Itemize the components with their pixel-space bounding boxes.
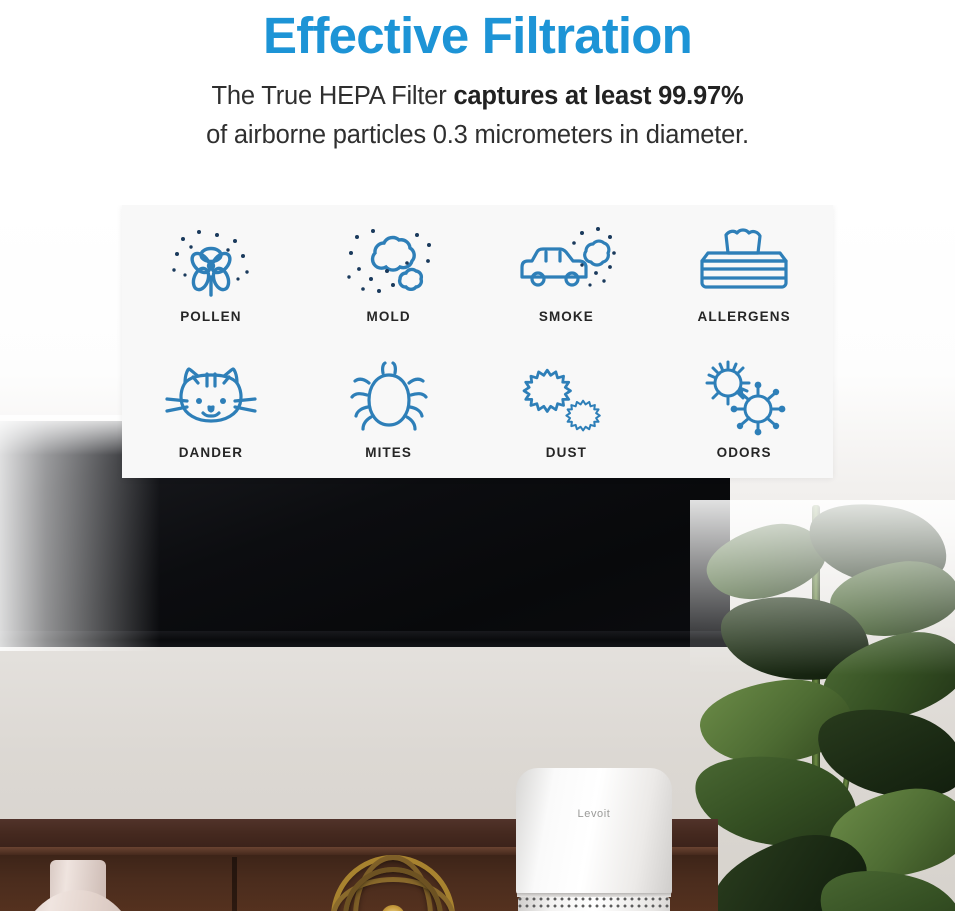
filtration-item-mold: MOLD — [300, 205, 478, 342]
levoit-air-purifier: Levoit — [516, 768, 672, 911]
filtration-item-allergens: ALLERGENS — [655, 205, 833, 342]
dust-mite-bug-icon — [333, 359, 445, 437]
mold-spore-cloud-icon — [333, 223, 445, 301]
filtration-item-pollen: POLLEN — [122, 205, 300, 342]
purifier-intake-mesh — [518, 897, 670, 911]
filtration-icon-grid: POLLEN MOLD — [122, 205, 833, 478]
header-section: Effective Filtration The True HEPA Filte… — [0, 0, 955, 205]
filtration-label: POLLEN — [180, 309, 241, 324]
ceramic-vase — [14, 860, 142, 911]
purifier-brand-label: Levoit — [516, 808, 672, 820]
subtitle-line1-bold: captures at least 99.97% — [453, 82, 743, 110]
filtration-label: ALLERGENS — [698, 309, 791, 324]
filtration-label: MOLD — [367, 309, 411, 324]
filtration-label: MITES — [365, 445, 412, 460]
purifier-upper-housing — [516, 768, 672, 895]
odor-germ-icon — [688, 359, 800, 437]
filtration-item-smoke: SMOKE — [478, 205, 656, 342]
filtration-label: SMOKE — [539, 309, 594, 324]
filtration-label: DANDER — [179, 445, 243, 460]
gold-armillary-sphere — [331, 855, 455, 911]
subtitle-line1-regular: The True HEPA Filter — [212, 82, 454, 110]
page-title: Effective Filtration — [0, 0, 955, 61]
filtration-item-dander: DANDER — [122, 342, 300, 479]
filtration-icon-panel: POLLEN MOLD — [122, 205, 833, 478]
tissue-box-icon — [688, 223, 800, 301]
filtration-label: ODORS — [717, 445, 772, 460]
filtration-label: DUST — [546, 445, 587, 460]
pollen-flower-icon — [155, 223, 267, 301]
subtitle-line2: of airborne particles 0.3 micrometers in… — [206, 121, 749, 149]
car-exhaust-smoke-icon — [510, 223, 622, 301]
dust-particle-icon — [510, 359, 622, 437]
filtration-item-odors: ODORS — [655, 342, 833, 479]
filtration-item-mites: MITES — [300, 342, 478, 479]
subtitle-text: The True HEPA Filter captures at least 9… — [0, 77, 955, 155]
plant-light-haze — [690, 500, 955, 675]
console-drawer-seam — [232, 857, 237, 911]
vase-body — [14, 890, 142, 911]
television-logo — [288, 633, 348, 643]
filtration-item-dust: DUST — [478, 342, 656, 479]
cat-face-icon — [155, 359, 267, 437]
